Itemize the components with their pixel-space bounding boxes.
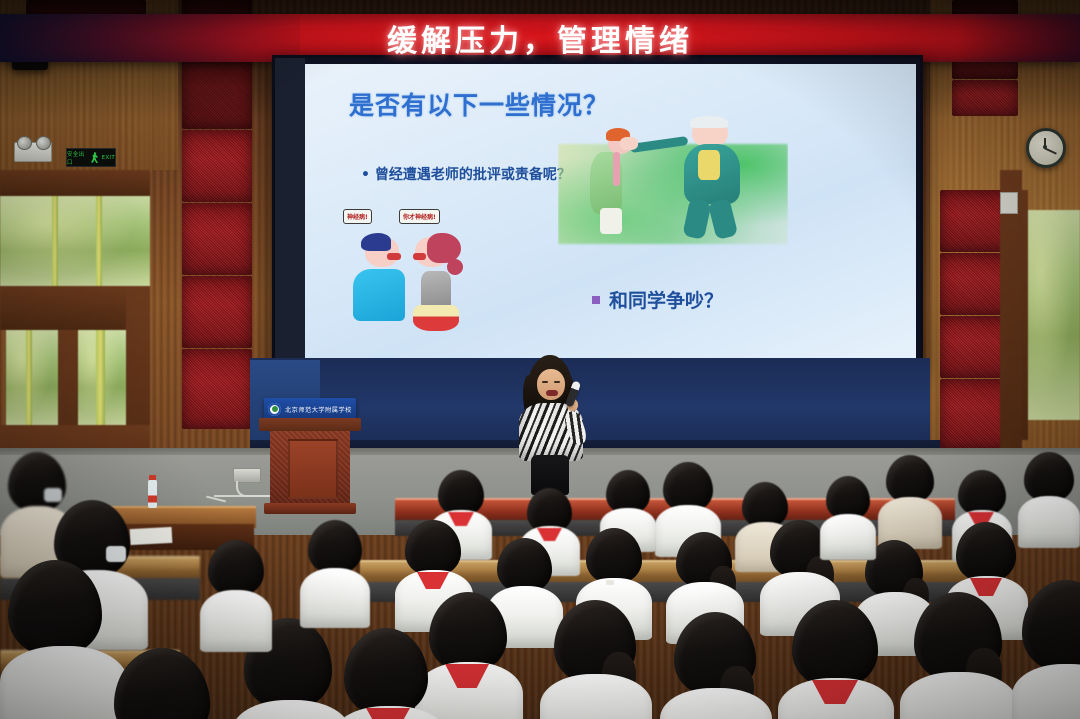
bamboo-stalk xyxy=(96,196,102,286)
speech-bubble-left: 神经病! xyxy=(343,209,372,224)
right-door-window xyxy=(1018,150,1080,480)
acoustic-panel xyxy=(182,203,252,275)
student-head xyxy=(1022,580,1080,672)
student xyxy=(104,648,234,719)
girl-mouth xyxy=(413,253,426,260)
student-shirt xyxy=(232,700,350,719)
student-head xyxy=(8,560,102,656)
student-head xyxy=(1024,452,1074,502)
student-head xyxy=(344,628,428,716)
scolding-man xyxy=(676,116,758,244)
student-head xyxy=(956,522,1016,582)
student-head xyxy=(308,520,362,574)
student xyxy=(900,592,1018,719)
student-shirt xyxy=(1012,664,1080,719)
girl-hair-bun xyxy=(447,259,463,275)
student-head xyxy=(114,648,210,719)
presenter-mouth xyxy=(546,390,558,396)
bamboo-stalk xyxy=(52,196,58,286)
student xyxy=(778,600,894,719)
speech-bubble-right: 你才神经病! xyxy=(399,209,440,224)
exit-sign-label-cn: 安全出口 xyxy=(67,150,89,166)
man-vest xyxy=(698,150,720,180)
student-trousers xyxy=(600,208,622,234)
cartoon-students-arguing: 神经病! 你才神经病! xyxy=(343,209,493,334)
girl-top xyxy=(421,271,451,309)
collar-band xyxy=(606,580,614,585)
arguing-boy xyxy=(351,233,413,333)
door-post-right xyxy=(1000,170,1022,480)
logo-inner xyxy=(272,406,278,412)
man-leg xyxy=(708,198,739,240)
student xyxy=(820,476,876,546)
boy-shirt xyxy=(353,269,405,321)
student-head xyxy=(886,455,934,503)
arguing-girl xyxy=(407,233,477,335)
podium-banner-text: 北京师范大学附属学校 xyxy=(285,405,352,414)
man-leg xyxy=(682,198,711,240)
presenter-speaker xyxy=(505,355,597,490)
boy-mouth xyxy=(387,253,401,260)
acoustic-panel xyxy=(182,349,252,429)
lecture-hall-photo: 缓解压力，管理情绪 安全出口 EXIT xyxy=(0,0,1080,719)
student-head xyxy=(792,600,878,688)
student-shirt xyxy=(200,590,272,652)
student-shirt xyxy=(300,568,370,628)
man-hand xyxy=(620,137,638,150)
podium-front-panel xyxy=(288,439,338,499)
podium-base xyxy=(264,503,356,514)
student xyxy=(878,455,942,539)
bamboo-stalk xyxy=(96,330,105,425)
girl-skirt xyxy=(413,305,459,331)
bamboo-stalk xyxy=(26,330,32,425)
window-lower-right xyxy=(78,330,126,425)
podium-banner: 北京师范大学附属学校 xyxy=(264,398,356,420)
bullet-text: 曾经遭遇老师的批评或责备呢？ xyxy=(375,167,571,183)
wall-clock xyxy=(1026,128,1066,168)
emergency-lamp xyxy=(36,136,51,150)
exit-sign-label-en: EXIT xyxy=(102,155,115,161)
podium-top xyxy=(259,418,361,431)
student xyxy=(300,520,370,616)
red-scarf xyxy=(366,708,410,719)
student xyxy=(540,600,652,719)
student-tie xyxy=(613,152,620,186)
student xyxy=(660,612,772,719)
window-lower-left xyxy=(6,330,58,425)
presenter-eye xyxy=(554,381,560,383)
projection-screen: 是否有以下一些情况？ • 曾经遭遇老师的批评或责备呢？ 和同学争吵？ xyxy=(272,55,923,371)
running-man-icon xyxy=(91,152,100,163)
bullet-text: 和同学争吵？ xyxy=(609,290,723,312)
exit-sign: 安全出口 EXIT xyxy=(66,148,116,167)
student xyxy=(200,540,272,640)
emergency-light xyxy=(14,142,52,162)
cartoon-teacher-scolding xyxy=(558,104,788,254)
bullet-marker: • xyxy=(361,167,370,183)
door-header xyxy=(0,170,150,196)
student-shirt xyxy=(660,688,772,719)
slide-bullet-2: 和同学争吵？ xyxy=(592,286,723,313)
banner-title: 缓解压力，管理情绪 xyxy=(387,16,693,60)
window-right-glass xyxy=(1024,210,1080,420)
student xyxy=(1012,580,1080,719)
presenter-eye xyxy=(542,381,548,383)
slide-bullet-1: • 曾经遭遇老师的批评或责备呢？ xyxy=(361,164,571,184)
window-upper xyxy=(0,196,150,286)
lectern-podium: 北京师范大学附属学校 xyxy=(264,390,356,515)
student-head xyxy=(405,520,461,576)
acoustic-panel xyxy=(182,130,252,202)
man-hair xyxy=(690,116,728,128)
bullet-square-marker xyxy=(592,296,600,304)
student-shirt xyxy=(820,514,876,560)
acoustic-panel xyxy=(182,276,252,348)
water-bottle xyxy=(148,480,157,508)
screen-dark-band xyxy=(275,58,305,368)
emergency-lamp xyxy=(17,136,32,150)
student-head xyxy=(208,540,264,596)
presentation-slide: 是否有以下一些情况？ • 曾经遭遇老师的批评或责备呢？ 和同学争吵？ xyxy=(305,64,916,358)
student-head xyxy=(586,528,642,584)
school-logo-icon xyxy=(268,403,281,416)
student-head xyxy=(497,538,552,593)
presenter-face xyxy=(537,369,565,400)
door-sign-plate xyxy=(1000,192,1018,214)
boy-hair xyxy=(361,233,391,251)
clock-center xyxy=(1043,145,1047,149)
podium-body xyxy=(270,431,350,505)
